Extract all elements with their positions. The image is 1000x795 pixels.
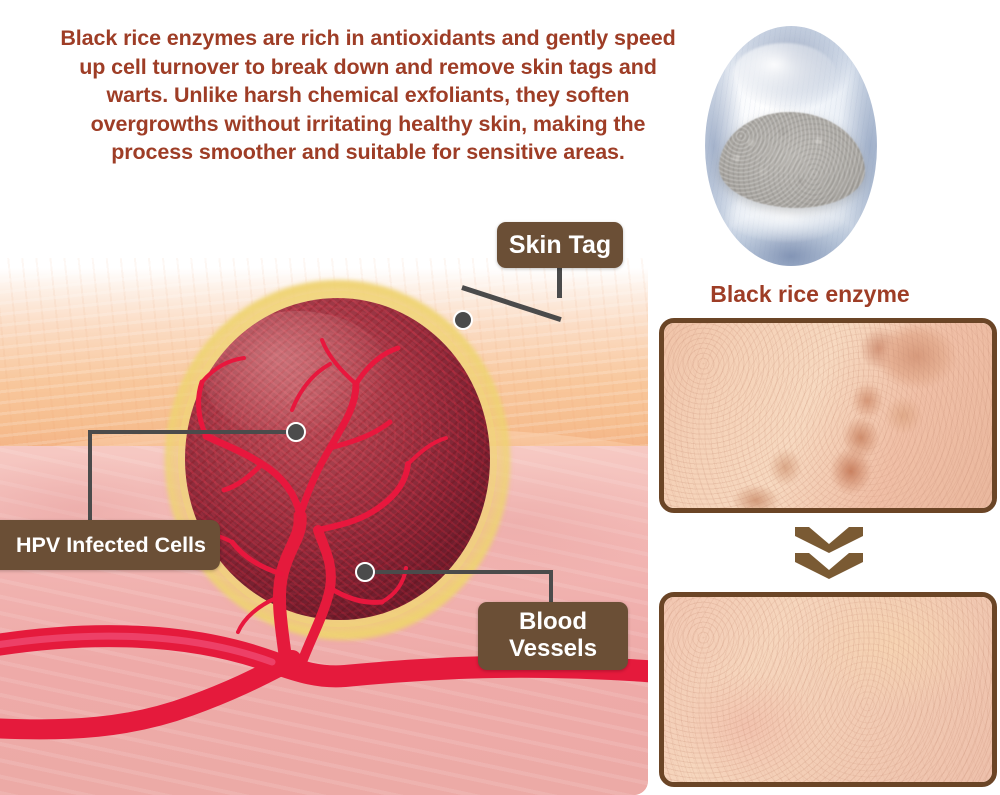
headline-text: Black rice enzymes are rich in antioxida… (4, 24, 732, 167)
hpv-connector-vertical (88, 430, 92, 532)
enzyme-caption: Black rice enzyme (660, 281, 960, 308)
after-photo[interactable] (659, 592, 997, 787)
double-chevron-down-icon (795, 527, 863, 591)
skin-pore-texture (664, 323, 992, 508)
skin-pore-texture-after (664, 597, 992, 782)
skin-tag-anchor-dot (453, 310, 473, 330)
callout-hpv-infected-cells[interactable]: HPV Infected Cells (0, 520, 220, 570)
crystal-ball-icon (705, 26, 877, 266)
chevron-2 (795, 553, 863, 579)
blood-connector-horizontal (370, 570, 553, 574)
chevron-1 (795, 527, 863, 553)
blood-anchor-dot (355, 562, 375, 582)
hpv-connector-horizontal (88, 430, 300, 434)
sphere-highlight-top (733, 43, 836, 105)
black-rice-enzyme-sphere (700, 26, 880, 272)
callout-blood-vessels-label: Blood Vessels (509, 609, 597, 663)
before-photo[interactable] (659, 318, 997, 513)
infographic-canvas: Black rice enzymes are rich in antioxida… (0, 0, 1000, 795)
callout-skin-tag[interactable]: Skin Tag (497, 222, 623, 268)
hpv-anchor-dot (286, 422, 306, 442)
callout-blood-vessels[interactable]: Blood Vessels (478, 602, 628, 670)
